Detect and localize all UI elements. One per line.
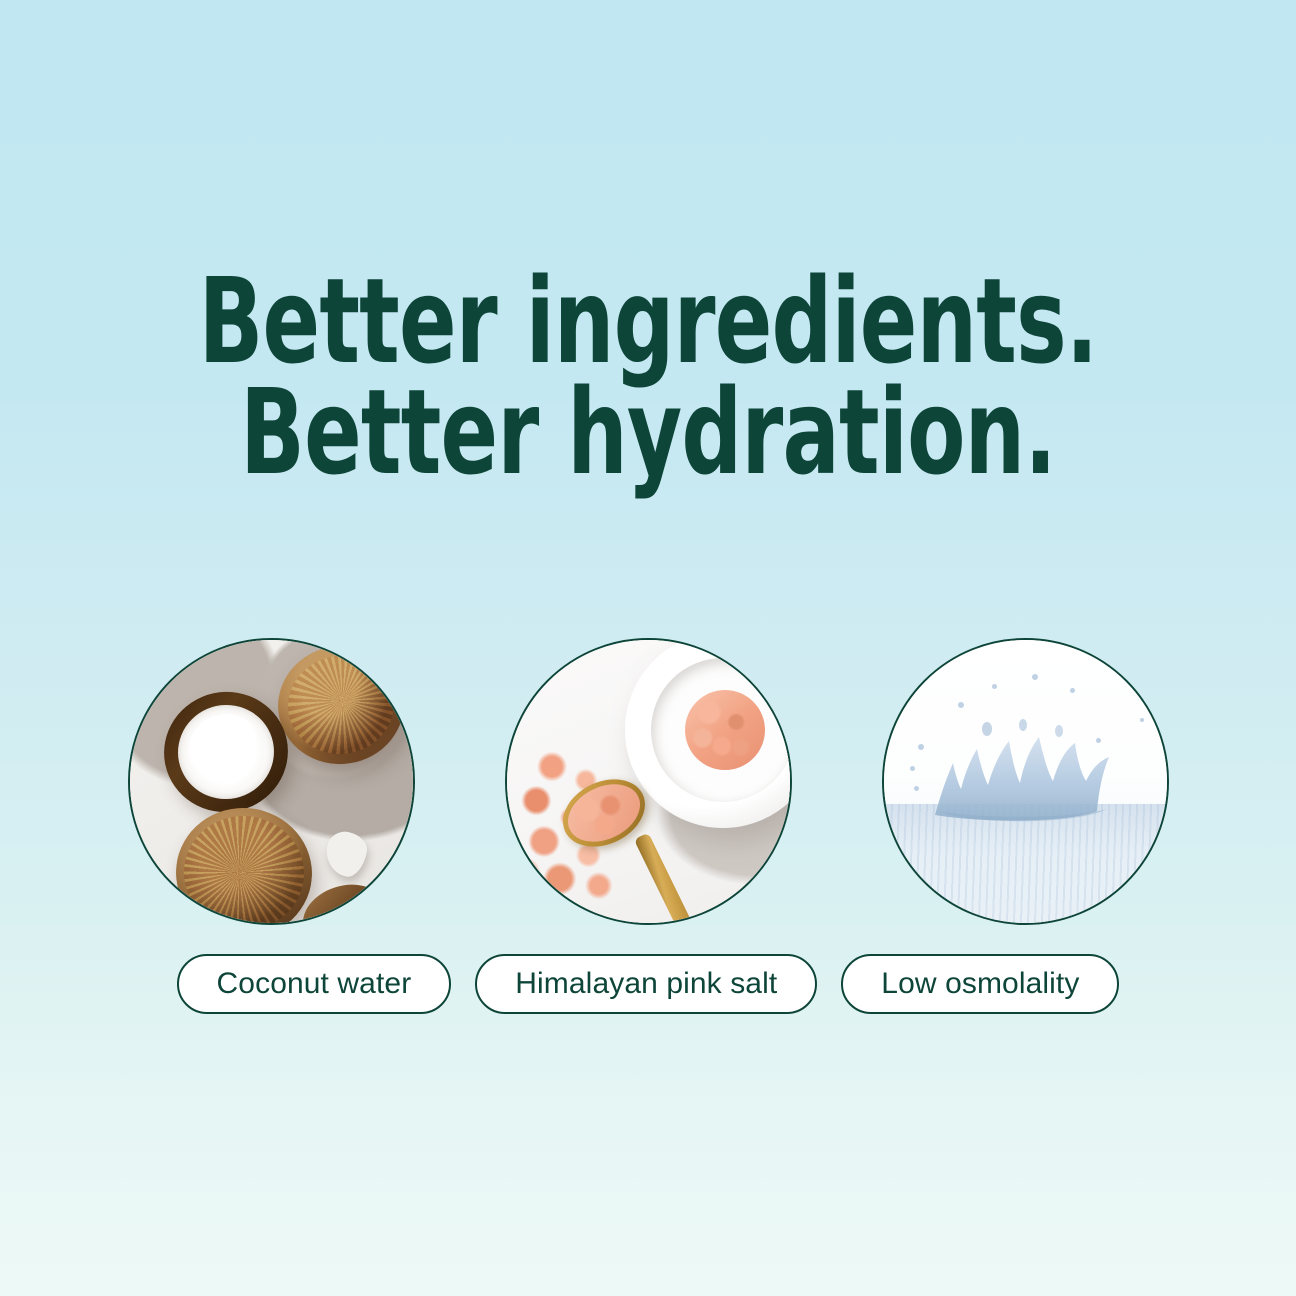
feature-card-water <box>879 638 1171 925</box>
water-splash-photo <box>882 638 1169 925</box>
pink-salt-photo <box>505 638 792 925</box>
feature-card-coconut <box>125 638 417 925</box>
water-droplet-icon <box>1070 688 1075 693</box>
label-pill-low-osmolality[interactable]: Low osmolality <box>841 954 1119 1014</box>
water-droplet-icon <box>1096 738 1101 743</box>
salt-illustration <box>507 640 790 923</box>
water-droplet-icon <box>992 684 997 689</box>
coconut-photo <box>128 638 415 925</box>
water-illustration <box>884 640 1167 923</box>
water-droplet-icon <box>910 766 915 771</box>
coconut-illustration <box>130 640 413 923</box>
water-droplet-icon <box>1032 674 1038 680</box>
promo-canvas: Better ingredients. Better hydration. <box>0 0 1296 1296</box>
page-title: Better ingredients. Better hydration. <box>0 266 1296 488</box>
bowl-inner-icon <box>651 658 792 802</box>
salt-mound-icon <box>685 690 765 770</box>
label-pill-himalayan-pink-salt[interactable]: Himalayan pink salt <box>475 954 817 1014</box>
label-pill-coconut-water[interactable]: Coconut water <box>177 954 452 1014</box>
water-droplet-icon <box>1140 718 1144 722</box>
water-droplet-icon <box>918 744 924 750</box>
splash-crown-icon <box>927 719 1123 831</box>
water-droplet-icon <box>914 786 919 791</box>
headline-line-2: Better hydration. <box>130 377 1167 488</box>
headline-line-1: Better ingredients. <box>130 266 1167 377</box>
feature-card-salt <box>502 638 794 925</box>
feature-circles-row <box>0 638 1296 925</box>
water-droplet-icon <box>958 702 964 708</box>
feature-labels-row: Coconut water Himalayan pink salt Low os… <box>0 954 1296 1014</box>
